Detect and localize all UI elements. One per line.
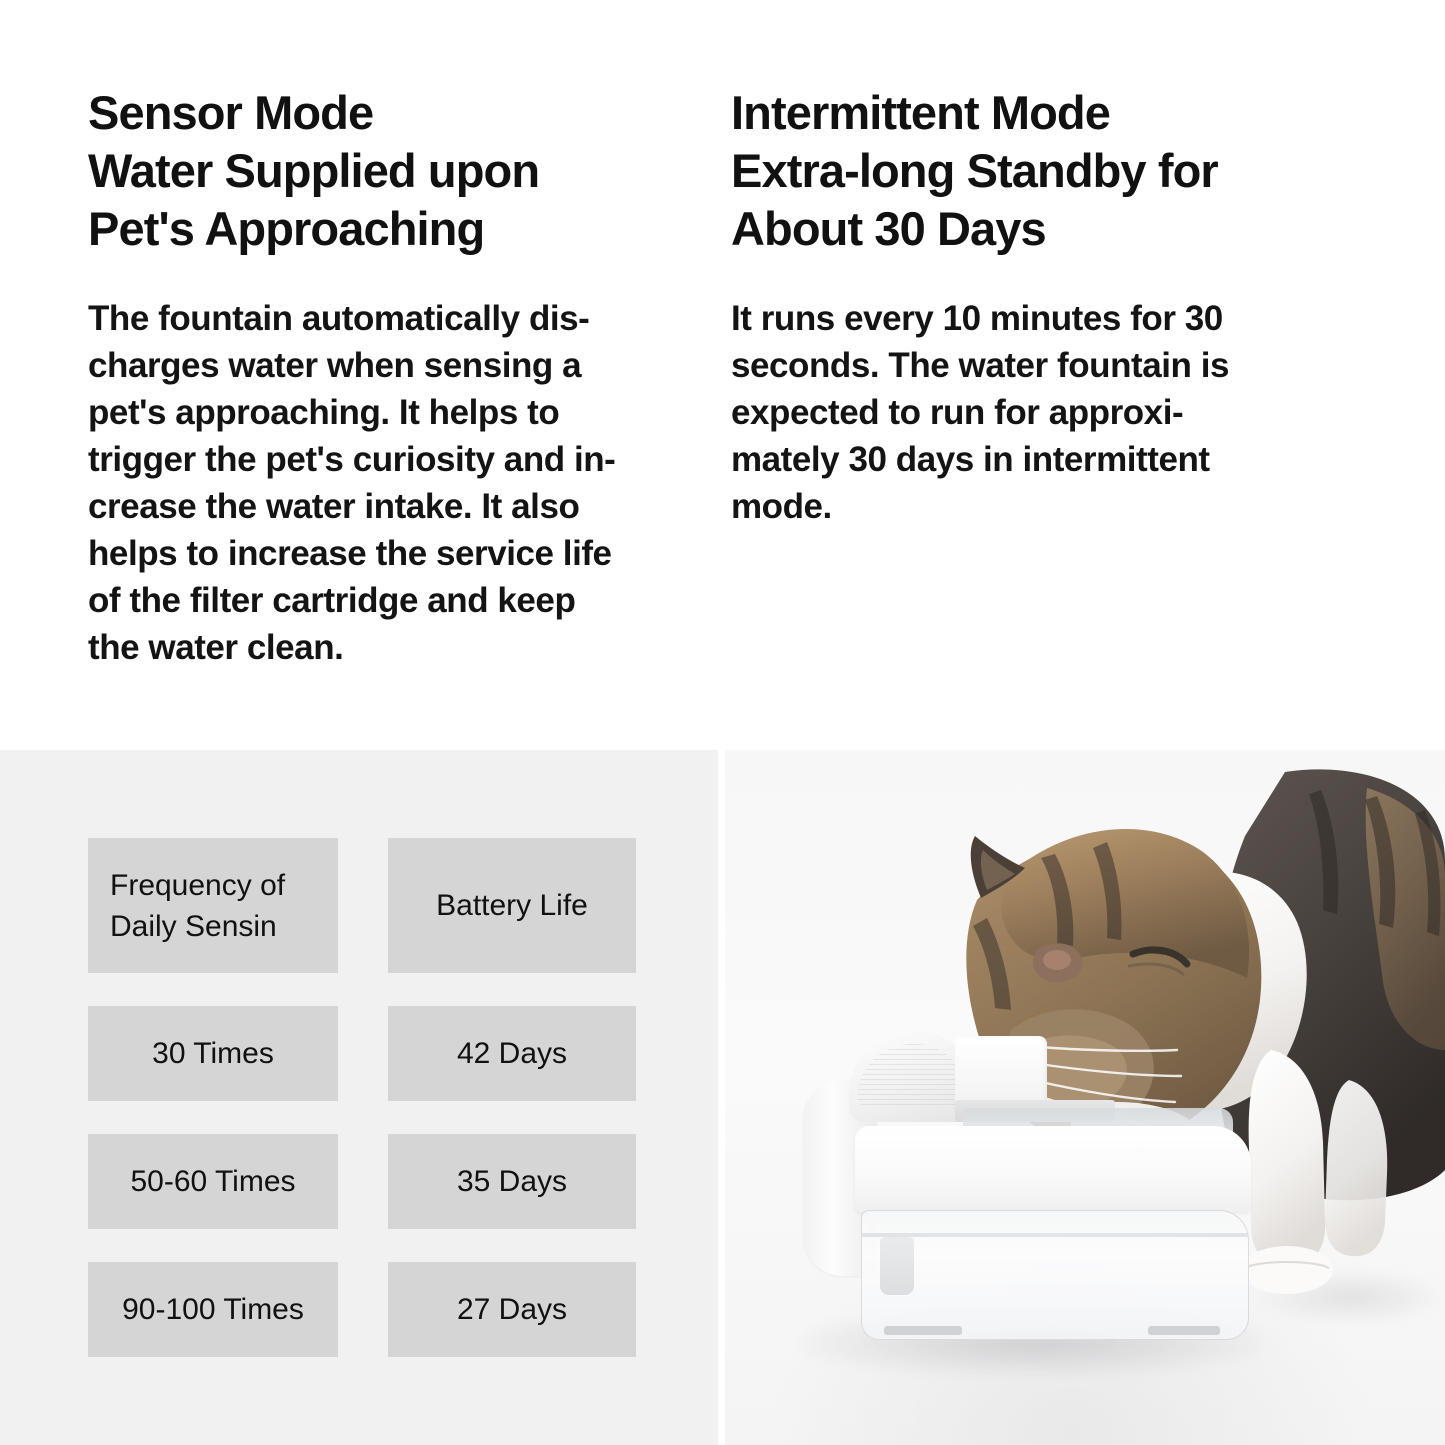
feature-text-section: Sensor Mode Water Supplied upon Pet's Ap… [0, 0, 1445, 750]
column-header-frequency: Frequency of Daily Sensin [88, 838, 338, 973]
product-photo [725, 750, 1445, 1445]
table-header-row: Frequency of Daily Sensin Battery Life [88, 838, 636, 973]
sensor-mode-heading: Sensor Mode Water Supplied upon Pet's Ap… [88, 84, 718, 258]
table-row: 30 Times 42 Days [88, 1006, 636, 1101]
cell-battery-2: 35 Days [388, 1134, 636, 1229]
feature-column-intermittent-mode: Intermittent Mode Extra-long Standby for… [731, 84, 1341, 530]
cell-battery-3: 27 Days [388, 1262, 636, 1357]
feature-column-sensor-mode: Sensor Mode Water Supplied upon Pet's Ap… [88, 84, 718, 671]
sensor-mode-description: The fountain automatically dis- charges … [88, 295, 718, 671]
fountain-pump-tube [880, 1237, 914, 1295]
spec-table: Frequency of Daily Sensin Battery Life 3… [88, 838, 636, 1357]
column-header-battery-life: Battery Life [388, 838, 636, 973]
table-row: 90-100 Times 27 Days [88, 1262, 636, 1357]
intermittent-mode-heading: Intermittent Mode Extra-long Standby for… [731, 84, 1341, 258]
intermittent-mode-description: It runs every 10 minutes for 30 seconds.… [731, 295, 1341, 530]
cell-frequency-1: 30 Times [88, 1006, 338, 1101]
spec-table-panel: Frequency of Daily Sensin Battery Life 3… [0, 750, 718, 1445]
cell-frequency-2: 50-60 Times [88, 1134, 338, 1229]
cell-battery-1: 42 Days [388, 1006, 636, 1101]
fountain-water-line [862, 1233, 1248, 1237]
fountain-upper-shell [855, 1126, 1251, 1212]
table-row: 50-60 Times 35 Days [88, 1134, 636, 1229]
water-fountain-product [803, 1022, 1273, 1352]
cell-frequency-3: 90-100 Times [88, 1262, 338, 1357]
bottom-section: Frequency of Daily Sensin Battery Life 3… [0, 750, 1445, 1445]
fountain-foot-left [884, 1326, 962, 1335]
fountain-water-tank [861, 1210, 1249, 1340]
fountain-foot-right [1148, 1326, 1220, 1335]
